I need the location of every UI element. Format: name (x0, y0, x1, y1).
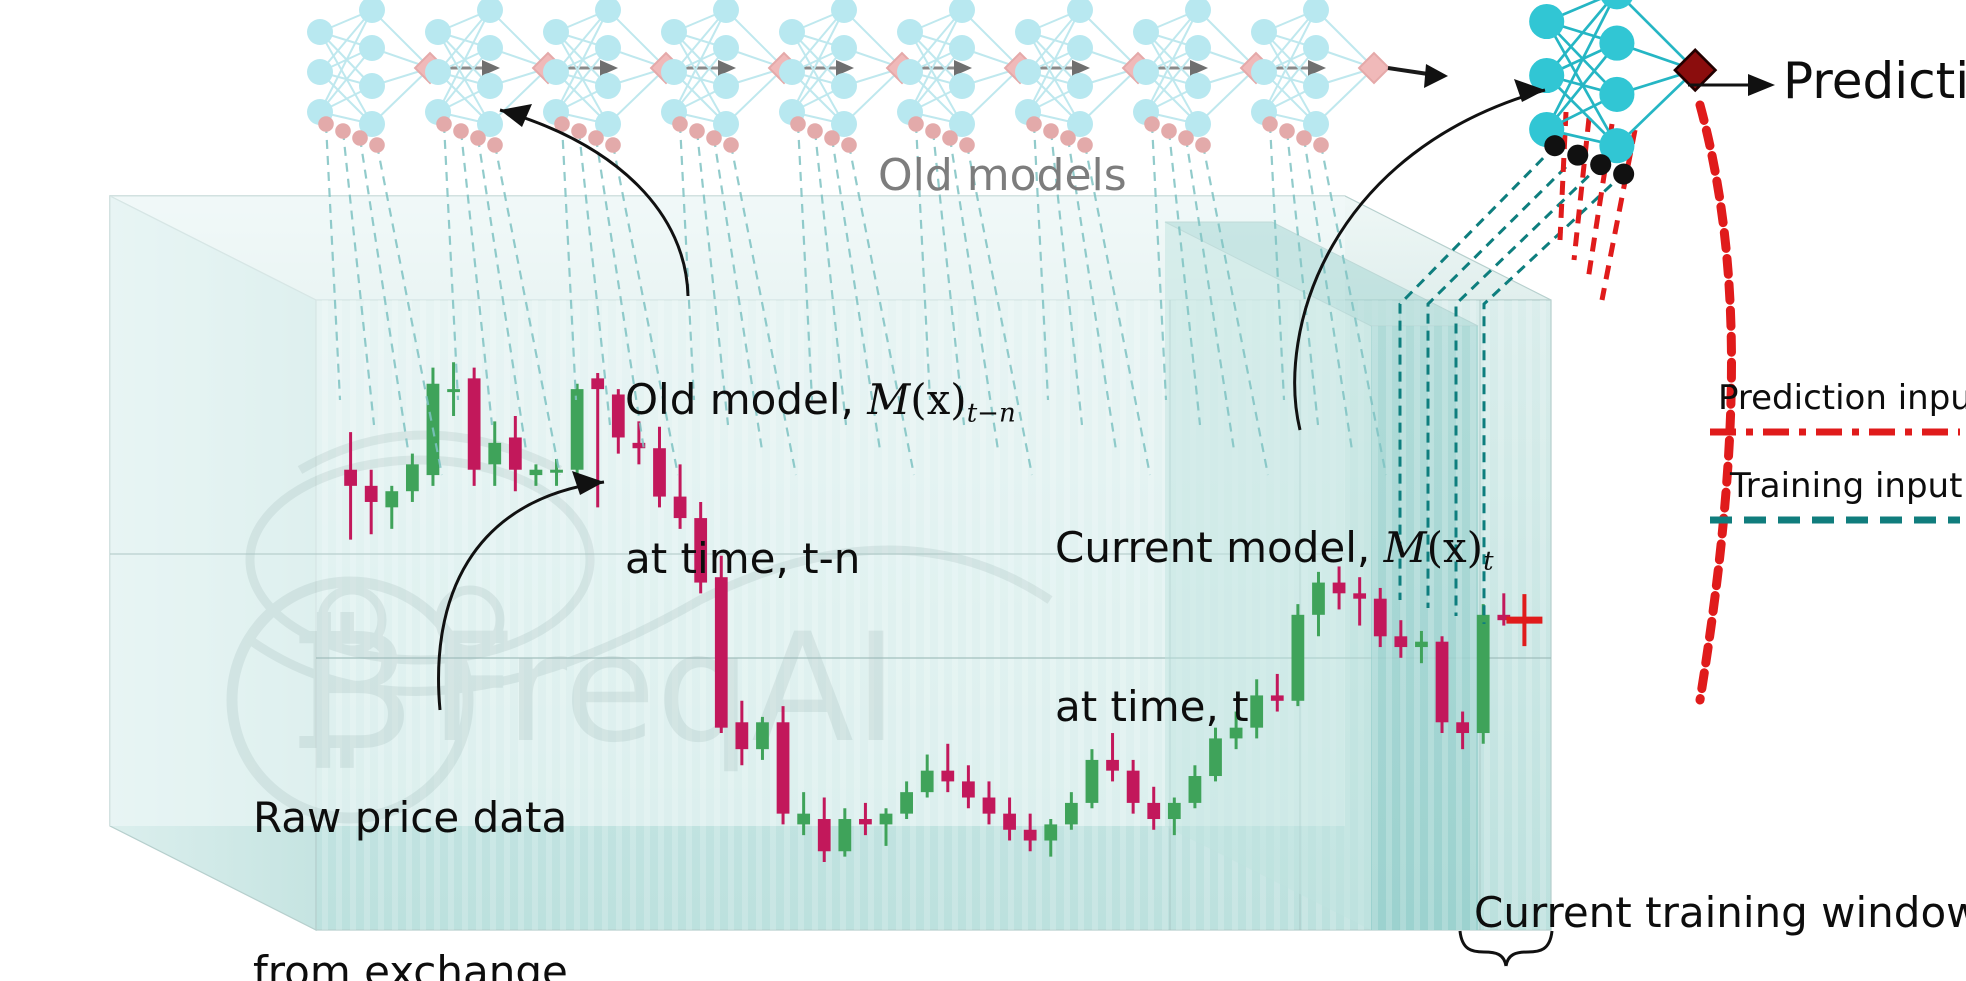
legend-training-label: Training input (1730, 466, 1962, 506)
old-model-annotation: Old model, M(x)t−n at time, t-n (625, 272, 1016, 687)
prediction-label: Prediction (1783, 52, 1966, 110)
raw-price-annotation-line2: from exchange (253, 946, 568, 981)
current-model-annotation-line1: Current model, M(x)t (1055, 522, 1494, 578)
old-models-label: Old models (878, 150, 1127, 201)
legend-prediction-label: Prediction input (1718, 378, 1966, 418)
current-training-window-label: Current training window (1474, 888, 1966, 937)
figure-root: ₿ FreqAI (0, 0, 1966, 981)
old-model-annotation-line1: Old model, M(x)t−n (625, 374, 1016, 430)
raw-price-annotation: Raw price data from exchange (253, 690, 568, 981)
current-model-annotation: Current model, M(x)t at time, t (1055, 420, 1494, 835)
raw-price-annotation-line1: Raw price data (253, 792, 568, 843)
current-model-annotation-line2: at time, t (1055, 681, 1494, 732)
old-model-annotation-line2: at time, t-n (625, 533, 1016, 584)
